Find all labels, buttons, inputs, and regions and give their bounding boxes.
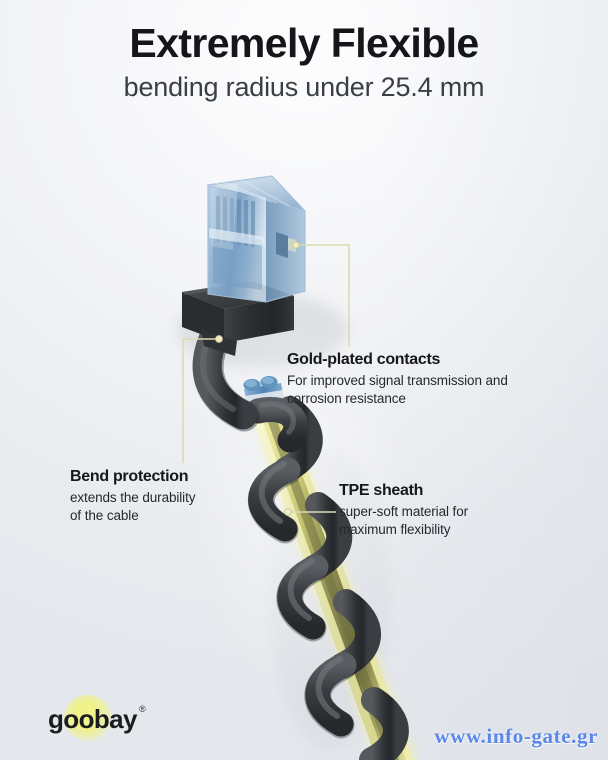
callout-description: super-soft material for maximum flexibil… [339, 503, 468, 539]
callout-gold-plated-contacts: Gold-plated contacts For improved signal… [287, 350, 508, 408]
site-watermark: www.info-gate.gr [434, 724, 598, 749]
rj45-connector [208, 176, 305, 302]
header: Extremely Flexible bending radius under … [0, 22, 608, 103]
goobay-logo: goobay ® [48, 702, 137, 736]
callout-title: Gold-plated contacts [287, 350, 508, 369]
registered-trademark-icon: ® [139, 704, 146, 714]
callout-desc-line-2: corrosion resistance [287, 390, 508, 408]
callout-desc-line-2: of the cable [70, 507, 195, 525]
callout-description: extends the durability of the cable [70, 489, 195, 525]
page-title: Extremely Flexible [0, 22, 608, 65]
leader-dot-gold [293, 242, 299, 248]
latch-tab [276, 232, 288, 258]
page-subtitle: bending radius under 25.4 mm [0, 73, 608, 103]
callout-desc-line-1: For improved signal transmission and [287, 372, 508, 390]
leader-dot-tpe [285, 509, 292, 516]
callout-desc-line-1: extends the durability [70, 489, 195, 507]
callout-tpe-sheath: TPE sheath super-soft material for maxim… [339, 481, 468, 539]
callout-desc-line-1: super-soft material for [339, 503, 468, 521]
callout-description: For improved signal transmission and cor… [287, 372, 508, 408]
callout-desc-line-2: maximum flexibility [339, 521, 468, 539]
leader-dot-bend [216, 336, 223, 343]
callout-bend-protection: Bend protection extends the durability o… [70, 467, 195, 525]
callout-title: Bend protection [70, 467, 195, 486]
product-hero-image: Extremely Flexible bending radius under … [0, 0, 608, 760]
logo-wordmark: goobay [48, 702, 137, 736]
callout-title: TPE sheath [339, 481, 468, 500]
